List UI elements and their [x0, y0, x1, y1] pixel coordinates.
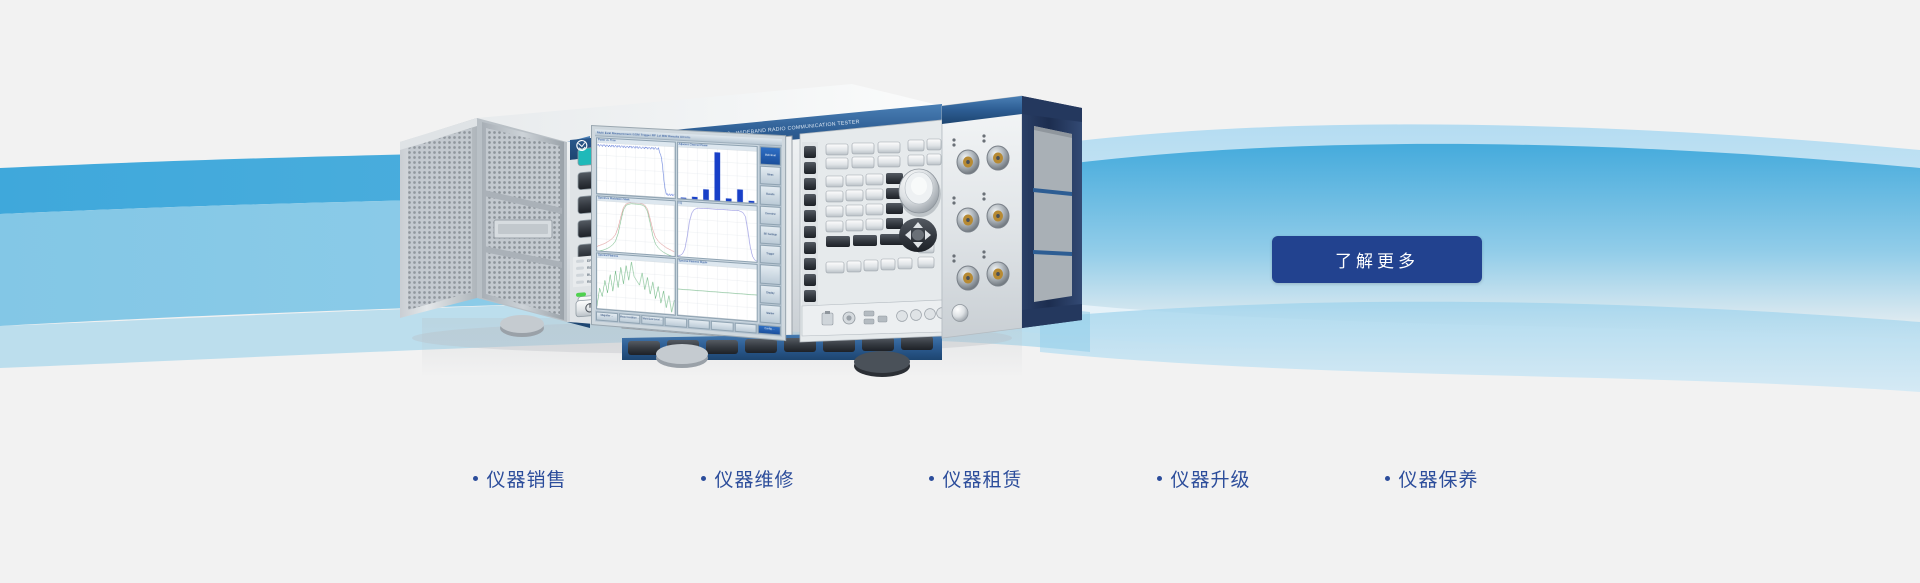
service-label: 仪器升级	[1171, 465, 1251, 492]
service-item-upgrade[interactable]: 仪器升级	[1157, 465, 1280, 492]
screen-softkeys-right[interactable]: Multi EvalMeasResultsOverviewRF Settings…	[759, 145, 782, 325]
vertical-softkey-strip	[802, 142, 818, 328]
plot-adjacent-channel-power: Adjacent Channel Power	[676, 142, 757, 205]
service-item-maintenance[interactable]: 仪器保养	[1385, 465, 1508, 492]
rf-connector-module	[942, 96, 1022, 338]
screen-softkey-right[interactable]: Display	[760, 284, 781, 304]
plot-canvas-2	[597, 200, 674, 256]
screen-softkey-bottom[interactable]: Magnifier ...	[596, 311, 618, 322]
service-label: 仪器租赁	[943, 465, 1023, 492]
screen-softkey-bottom[interactable]	[711, 321, 733, 332]
bullet-icon	[1157, 476, 1162, 481]
screen-softkey-right[interactable]: Trigger	[760, 245, 781, 265]
screen-softkey-right[interactable]: RF Settings	[760, 225, 781, 245]
plot-canvas-0	[597, 142, 674, 198]
service-list: 仪器销售仪器维修仪器租赁仪器升级仪器保养	[0, 465, 1920, 492]
screen-softkey-bottom[interactable]	[665, 317, 687, 328]
screen-softkey-bottom[interactable]: Config ...	[758, 324, 781, 335]
hero-banner: ERROR REMOTE BUSY READY	[0, 0, 1920, 583]
bullet-icon	[701, 476, 706, 481]
screen-softkey-bottom[interactable]: Multi Eval Level ...	[642, 315, 664, 326]
screen-softkey-right[interactable]: Overview	[760, 205, 781, 225]
plot-power-vs-time: Power vs. Time	[596, 137, 675, 199]
plot-canvas-3	[677, 205, 756, 262]
plot-spectral-flatness-ripple: Spectral Flatness Ripple	[676, 258, 757, 322]
learn-more-button[interactable]: 了解更多	[1272, 236, 1482, 283]
screen-softkey-right[interactable]	[760, 264, 781, 284]
service-item-rental[interactable]: 仪器租赁	[929, 465, 1052, 492]
plot-canvas-1	[677, 147, 756, 203]
carry-handle	[1022, 96, 1082, 328]
service-label: 仪器维修	[715, 465, 795, 492]
service-label: 仪器销售	[487, 465, 567, 492]
measurement-plot-grid: Power vs. Time Adjacent Channel Power Sp…	[595, 136, 759, 323]
instrument-cmw500: ERROR REMOTE BUSY READY	[382, 70, 1102, 415]
screen-softkey-right[interactable]: Meas	[760, 166, 781, 186]
plot-iq: I/Q	[676, 200, 757, 263]
screen-softkey-bottom[interactable]	[734, 323, 757, 334]
screen-softkey-right[interactable]: Marker	[760, 304, 781, 324]
service-item-sales[interactable]: 仪器销售	[473, 465, 596, 492]
bullet-icon	[1385, 476, 1390, 481]
service-item-repair[interactable]: 仪器维修	[701, 465, 824, 492]
chassis-vent-panel	[482, 122, 564, 320]
io-connector-strip	[802, 300, 947, 336]
direction-pad	[899, 218, 937, 252]
plot-spectrum-modulation-mask: Spectrum Modulation Mask	[596, 195, 675, 257]
plot-canvas-4	[597, 258, 674, 315]
plot-canvas-5	[677, 263, 756, 321]
service-label: 仪器保养	[1399, 465, 1479, 492]
screen-softkey-bottom[interactable]: Meas Condition ...	[619, 313, 641, 324]
screen-softkey-right[interactable]: Results	[760, 186, 781, 206]
screen-softkey-bottom[interactable]	[688, 319, 710, 330]
plot-spectral-flatness: Spectral Flatness	[596, 253, 675, 316]
chassis-left-vent	[400, 118, 477, 318]
bullet-icon	[473, 476, 478, 481]
instrument-display: Multi Eval Measurement GSM Trigger RF Lv…	[591, 125, 786, 341]
screen-softkey-right[interactable]: Multi Eval	[760, 146, 781, 166]
bullet-icon	[929, 476, 934, 481]
